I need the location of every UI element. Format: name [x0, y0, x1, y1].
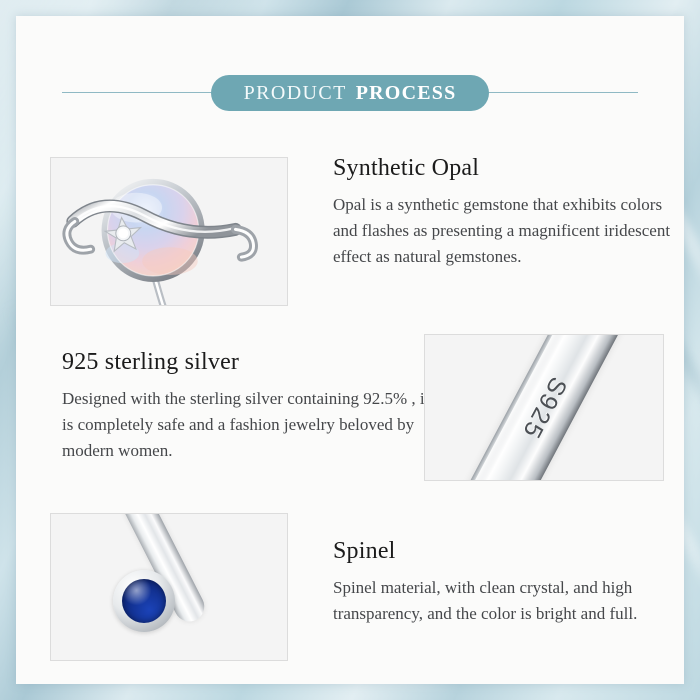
- opal-ring-illustration: [51, 158, 287, 306]
- spinel-bezel-setting: [113, 570, 175, 632]
- header-rule-right: [474, 92, 638, 93]
- header-rule-left: [62, 92, 226, 93]
- product-process-infographic: PRODUCT PROCESS: [0, 0, 700, 700]
- photo-synthetic-opal-ring: [50, 157, 288, 306]
- body-synthetic-opal: Opal is a synthetic gemstone that exhibi…: [333, 192, 689, 269]
- text-block-synthetic-opal: Synthetic Opal Opal is a synthetic gemst…: [333, 155, 689, 270]
- heading-spinel: Spinel: [333, 538, 689, 564]
- heading-synthetic-opal: Synthetic Opal: [333, 155, 689, 181]
- header-title-regular: PRODUCT: [244, 82, 347, 105]
- heading-sterling-silver: 925 sterling silver: [62, 349, 442, 375]
- text-block-spinel: Spinel Spinel material, with clean cryst…: [333, 538, 689, 627]
- text-block-sterling-silver: 925 sterling silver Designed with the st…: [62, 349, 442, 464]
- photo-blue-spinel: [50, 513, 288, 661]
- header-title-bold: PROCESS: [356, 82, 457, 105]
- body-sterling-silver: Designed with the sterling silver contai…: [62, 386, 442, 463]
- content-card: PRODUCT PROCESS: [16, 16, 684, 684]
- header-title-pill: PRODUCT PROCESS: [211, 75, 489, 111]
- body-spinel: Spinel material, with clean crystal, and…: [333, 575, 689, 627]
- header-banner: PRODUCT PROCESS: [16, 75, 684, 111]
- spinel-stone: [122, 579, 166, 623]
- photo-s925-engraving: S925: [424, 334, 664, 481]
- spinel-ring-illustration: [51, 514, 287, 660]
